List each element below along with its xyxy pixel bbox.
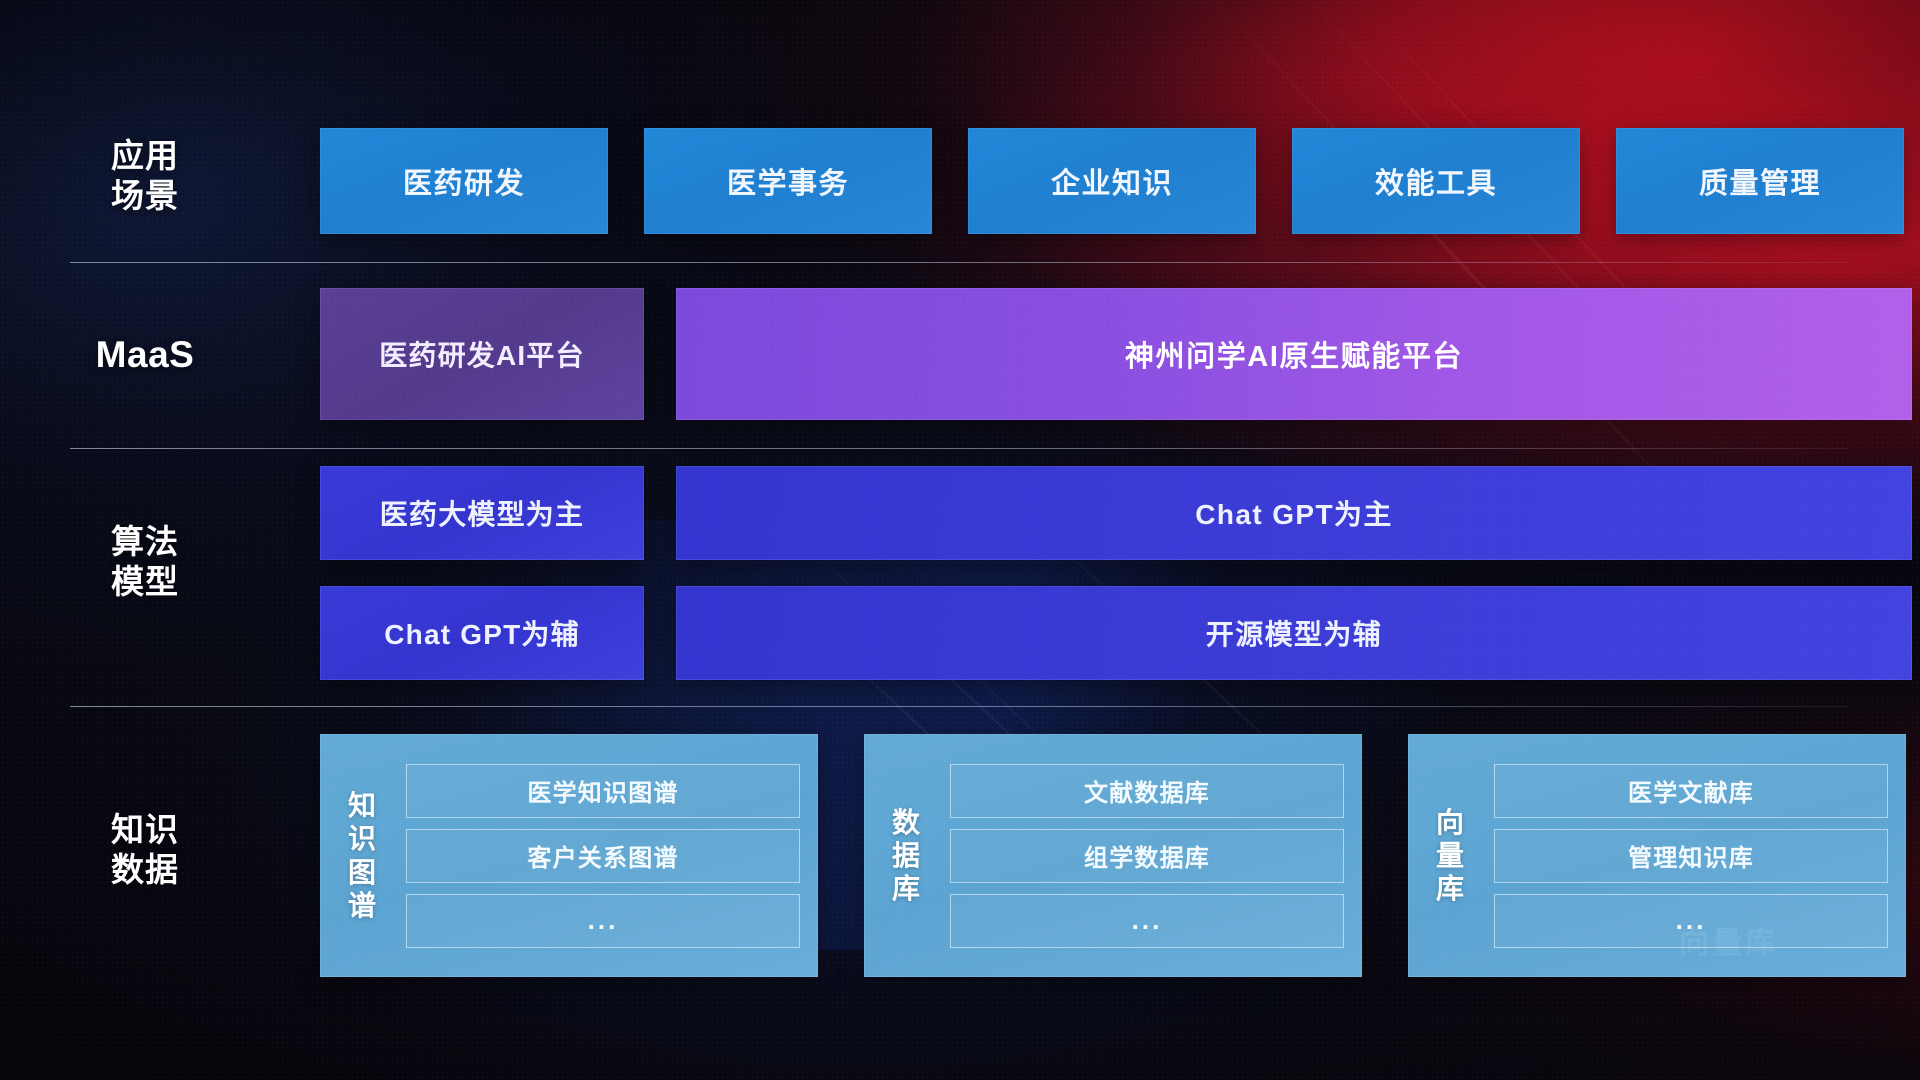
title-char: 知	[348, 789, 376, 822]
knowledge-item-literature-database[interactable]: 文献数据库	[950, 764, 1344, 818]
knowledge-item-more[interactable]: ...	[950, 894, 1344, 948]
title-char: 向	[1436, 806, 1464, 839]
title-char: 库	[892, 872, 920, 905]
knowledge-panel-database[interactable]: 数 据 库 文献数据库 组学数据库 ...	[864, 734, 1362, 977]
architecture-diagram-canvas: 应用 场景 医药研发 医学事务 企业知识 效能工具 质量管理 MaaS 医药研发…	[0, 0, 1920, 1080]
knowledge-item-more[interactable]: ...	[406, 894, 800, 948]
algo-card-opensource-secondary[interactable]: 开源模型为辅	[676, 586, 1912, 680]
knowledge-panel-vector-store[interactable]: 向 量 库 医学文献库 管理知识库 ...	[1408, 734, 1906, 977]
app-card-quality-management[interactable]: 质量管理	[1616, 128, 1904, 234]
app-card-enterprise-knowledge[interactable]: 企业知识	[968, 128, 1256, 234]
knowledge-item-label: ...	[1132, 905, 1163, 936]
title-char: 数	[892, 806, 920, 839]
knowledge-item-more[interactable]: ...	[1494, 894, 1888, 948]
knowledge-item-medical-knowledge-graph[interactable]: 医学知识图谱	[406, 764, 800, 818]
knowledge-item-list: 医学文献库 管理知识库 ...	[1494, 748, 1888, 963]
maas-card-shenzhou-platform[interactable]: 神州问学AI原生赋能平台	[676, 288, 1912, 420]
knowledge-item-list: 医学知识图谱 客户关系图谱 ...	[406, 748, 800, 963]
algorithm-line-secondary: Chat GPT为辅 开源模型为辅	[320, 586, 1912, 680]
divider-after-maas	[70, 448, 1848, 449]
application-card-track: 医药研发 医学事务 企业知识 效能工具 质量管理	[320, 128, 1904, 234]
algo-card-label: 医药大模型为主	[380, 493, 584, 533]
knowledge-item-customer-relation-graph[interactable]: 客户关系图谱	[406, 829, 800, 883]
knowledge-panel-title-vector-store: 向 量 库	[1422, 748, 1478, 963]
row-label-application-scenarios: 应用 场景	[70, 136, 220, 217]
knowledge-item-label: 医学文献库	[1628, 773, 1754, 808]
app-card-label: 医学事务	[727, 160, 849, 202]
app-card-label: 医药研发	[403, 160, 525, 202]
app-card-label: 企业知识	[1051, 160, 1173, 202]
app-card-medical-affairs[interactable]: 医学事务	[644, 128, 932, 234]
row-label-maas: MaaS	[70, 332, 220, 377]
knowledge-item-omics-database[interactable]: 组学数据库	[950, 829, 1344, 883]
knowledge-item-list: 文献数据库 组学数据库 ...	[950, 748, 1344, 963]
row-label-line-2: 场景	[70, 176, 220, 216]
row-label-line-2: 数据	[70, 850, 220, 890]
row-label-knowledge-data: 知识 数据	[70, 810, 220, 891]
algo-card-medicine-llm-primary[interactable]: 医药大模型为主	[320, 466, 644, 560]
knowledge-panel-track: 知 识 图 谱 医学知识图谱 客户关系图谱 ... 数 据	[320, 734, 1906, 977]
knowledge-item-label: 管理知识库	[1628, 838, 1754, 873]
app-card-medicine-rd[interactable]: 医药研发	[320, 128, 608, 234]
knowledge-panel-title-database: 数 据 库	[878, 748, 934, 963]
divider-after-algorithm-models	[70, 706, 1848, 707]
algorithm-card-track: 医药大模型为主 Chat GPT为主 Chat GPT为辅 开源模型为辅	[320, 466, 1912, 680]
maas-card-label: 医药研发AI平台	[379, 334, 585, 374]
algo-card-label: Chat GPT为辅	[384, 613, 580, 653]
algo-card-chatgpt-secondary[interactable]: Chat GPT为辅	[320, 586, 644, 680]
knowledge-item-label: 文献数据库	[1084, 773, 1210, 808]
row-label-algorithm-models: 算法 模型	[70, 522, 220, 603]
title-char: 识	[348, 822, 376, 855]
title-char: 图	[348, 856, 376, 889]
algo-card-label: 开源模型为辅	[1206, 613, 1382, 653]
row-label-line-1: 应用	[70, 136, 220, 176]
maas-card-label: 神州问学AI原生赋能平台	[1125, 333, 1463, 375]
row-label-line-2: 模型	[70, 562, 220, 602]
algo-card-chatgpt-primary[interactable]: Chat GPT为主	[676, 466, 1912, 560]
knowledge-item-label: 组学数据库	[1084, 838, 1210, 873]
title-char: 谱	[348, 889, 376, 922]
knowledge-item-label: ...	[588, 905, 619, 936]
knowledge-item-management-knowledge-store[interactable]: 管理知识库	[1494, 829, 1888, 883]
title-char: 量	[1436, 839, 1464, 872]
row-label-line-1: 算法	[70, 522, 220, 562]
app-card-label: 质量管理	[1699, 160, 1821, 202]
knowledge-panel-title-knowledge-graph: 知 识 图 谱	[334, 748, 390, 963]
divider-after-application-scenarios	[70, 262, 1848, 263]
row-label-line-1: 知识	[70, 810, 220, 850]
algo-card-label: Chat GPT为主	[1195, 493, 1393, 533]
knowledge-item-label: ...	[1676, 905, 1707, 936]
knowledge-item-label: 客户关系图谱	[527, 838, 678, 873]
knowledge-item-medical-literature-store[interactable]: 医学文献库	[1494, 764, 1888, 818]
maas-card-track: 医药研发AI平台 神州问学AI原生赋能平台	[320, 288, 1912, 420]
title-char: 据	[892, 839, 920, 872]
row-label-text: MaaS	[70, 332, 220, 377]
knowledge-item-label: 医学知识图谱	[527, 773, 678, 808]
knowledge-panel-knowledge-graph[interactable]: 知 识 图 谱 医学知识图谱 客户关系图谱 ...	[320, 734, 818, 977]
app-card-efficiency-tools[interactable]: 效能工具	[1292, 128, 1580, 234]
app-card-label: 效能工具	[1375, 160, 1497, 202]
algorithm-line-primary: 医药大模型为主 Chat GPT为主	[320, 466, 1912, 560]
title-char: 库	[1436, 872, 1464, 905]
maas-card-medicine-rd-platform[interactable]: 医药研发AI平台	[320, 288, 644, 420]
